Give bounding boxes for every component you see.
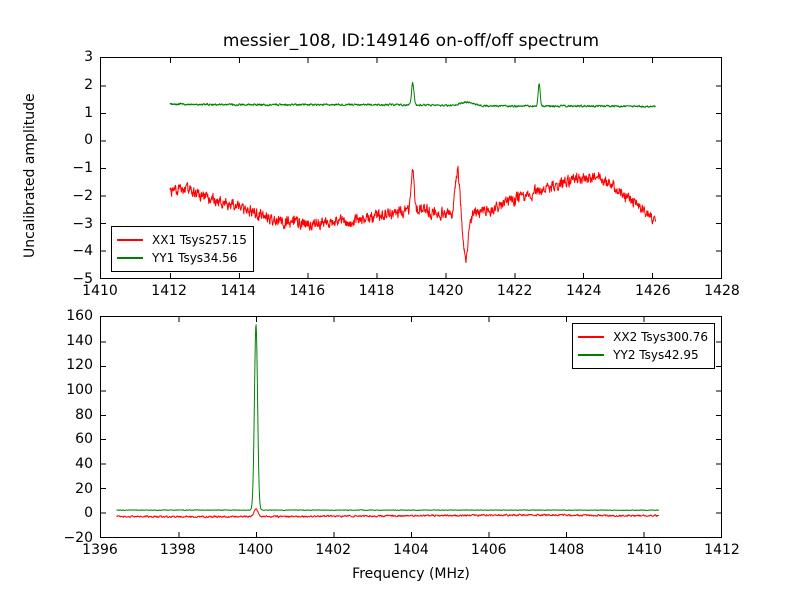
y-axis-tick-label: 120	[66, 357, 93, 373]
y-axis-tick-label: 140	[66, 333, 93, 349]
y-axis-tick-label: −3	[72, 216, 93, 232]
figure-title: messier_108, ID:149146 on-off/off spectr…	[100, 31, 722, 51]
figure-canvas: messier_108, ID:149146 on-off/off spectr…	[0, 0, 800, 600]
y-axis-tick-label: 1	[84, 105, 93, 121]
legend-entry: XX1 Tsys257.15	[117, 231, 247, 249]
legend-label: YY2 Tsys42.95	[613, 349, 698, 361]
x-axis-tick-label: 1406	[471, 542, 507, 558]
x-axis-tick-label: 1408	[549, 542, 585, 558]
legend-color-swatch	[117, 257, 143, 259]
x-axis-tick-label: 1400	[238, 542, 274, 558]
legend-entry: YY1 Tsys34.56	[117, 249, 247, 267]
x-axis-tick-label: 1404	[393, 542, 429, 558]
legend-entry: XX2 Tsys300.76	[578, 328, 708, 346]
y-axis-tick-label: 20	[75, 481, 93, 497]
x-axis-tick-label: 1412	[704, 542, 740, 558]
top-panel-ylabel: Uncalibrated amplitude	[22, 93, 38, 258]
y-axis-tick-label: 2	[84, 77, 93, 93]
y-axis-tick-label: −2	[72, 188, 93, 204]
x-axis-tick-label: 1424	[566, 283, 602, 299]
x-axis-tick-label: 1396	[82, 542, 118, 558]
legend-label: XX2 Tsys300.76	[613, 331, 708, 343]
x-axis-tick-label: 1410	[626, 542, 662, 558]
bottom-panel-xlabel: Frequency (MHz)	[100, 566, 722, 582]
x-axis-tick-label: 1428	[704, 283, 740, 299]
top-panel-legend: XX1 Tsys257.15YY1 Tsys34.56	[111, 226, 254, 272]
y-axis-tick-label: 160	[66, 308, 93, 324]
legend-entry: YY2 Tsys42.95	[578, 346, 708, 364]
y-axis-tick-label: −4	[72, 243, 93, 259]
legend-label: XX1 Tsys257.15	[152, 234, 247, 246]
x-axis-tick-label: 1426	[635, 283, 671, 299]
bottom-panel-axes: XX2 Tsys300.76YY2 Tsys42.95	[100, 316, 722, 538]
x-axis-tick-label: 1398	[160, 542, 196, 558]
legend-color-swatch	[117, 239, 143, 241]
y-axis-tick-label: 60	[75, 431, 93, 447]
bottom-panel-legend: XX2 Tsys300.76YY2 Tsys42.95	[572, 323, 715, 369]
y-axis-tick-label: 100	[66, 382, 93, 398]
y-axis-tick-label: 0	[84, 132, 93, 148]
x-axis-tick-label: 1420	[428, 283, 464, 299]
x-axis-tick-label: 1416	[290, 283, 326, 299]
y-axis-tick-label: 3	[84, 49, 93, 65]
y-axis-tick-label: 0	[84, 505, 93, 521]
legend-color-swatch	[578, 354, 604, 356]
y-axis-tick-label: 40	[75, 456, 93, 472]
x-axis-tick-label: 1402	[315, 542, 351, 558]
legend-label: YY1 Tsys34.56	[152, 252, 237, 264]
x-axis-tick-label: 1410	[82, 283, 118, 299]
legend-color-swatch	[578, 336, 604, 338]
x-axis-tick-label: 1418	[359, 283, 395, 299]
x-axis-tick-label: 1414	[220, 283, 256, 299]
top-panel-axes: XX1 Tsys257.15YY1 Tsys34.56	[100, 57, 722, 279]
x-axis-tick-label: 1422	[497, 283, 533, 299]
y-axis-tick-label: 80	[75, 407, 93, 423]
x-axis-tick-label: 1412	[151, 283, 187, 299]
y-axis-tick-label: −1	[72, 160, 93, 176]
